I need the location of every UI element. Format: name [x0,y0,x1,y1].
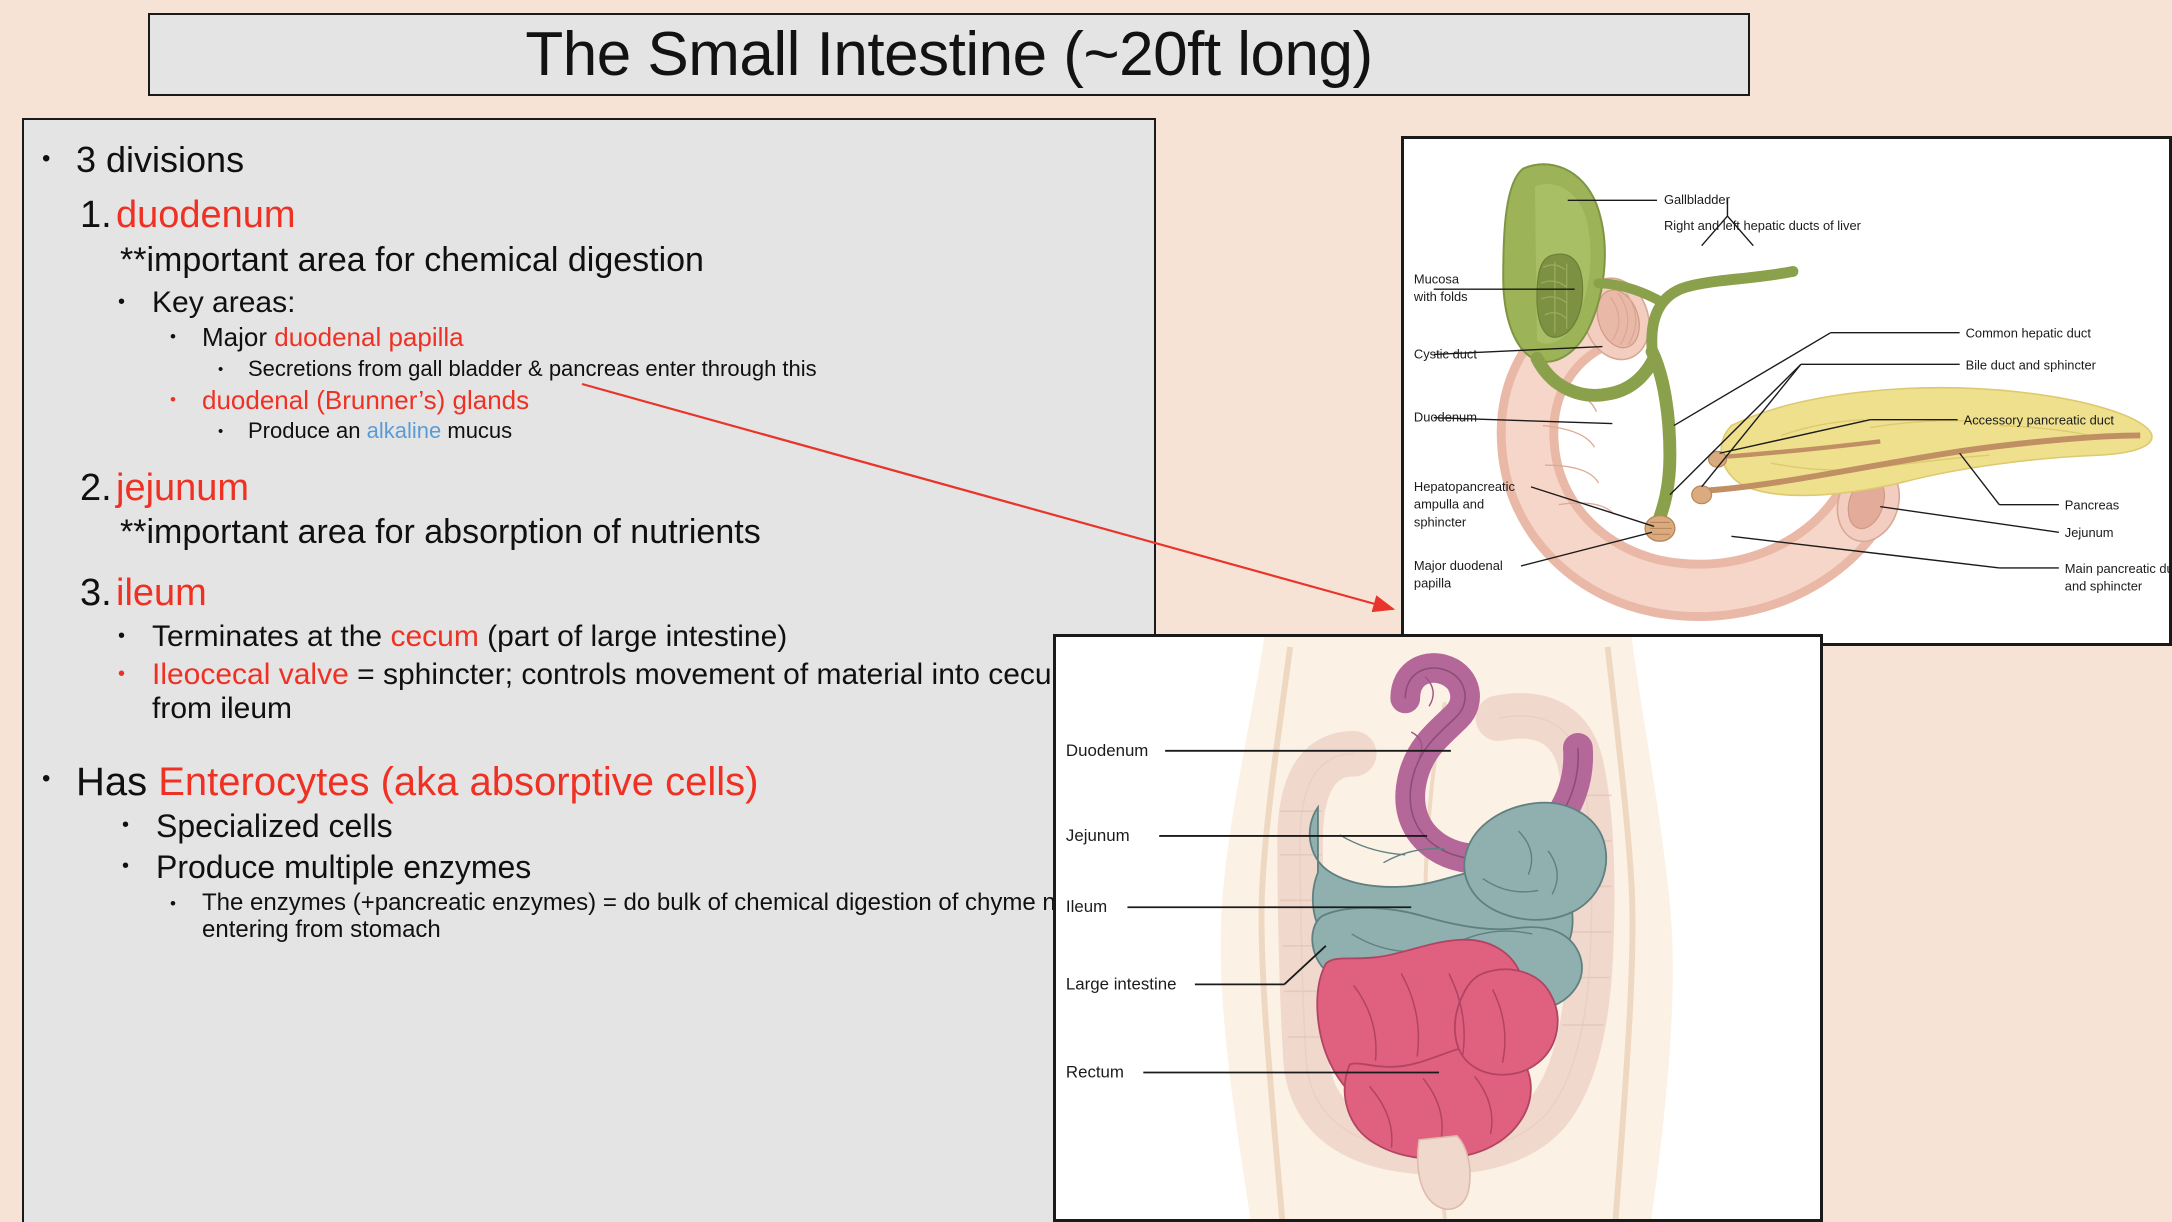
bullet-icon: • [42,140,76,178]
divisions-heading: 3 divisions [76,140,1136,180]
ileum-b1-post: (part of large intestine) [479,620,787,653]
major-papilla-line: Major duodenal papilla [202,323,1136,352]
enzymes-detail: The enzymes (+pancreatic enzymes) = do b… [202,890,1136,944]
bullet-icon: • [118,620,152,652]
brunner-detail: Produce an alkaline mucus [248,419,1136,444]
ileocecal-valve-line: Ileocecal valve = sphincter; controls mo… [152,658,1136,725]
list-item: • 3 divisions [42,140,1136,180]
label-duodenum-region: Duodenum [1066,741,1148,760]
label-accessory-pancreatic-duct: Accessory pancreatic duct [1964,413,2115,428]
list-number: 1. [80,194,116,237]
jejunum-label: jejunum [116,467,1136,510]
produce-enzymes: Produce multiple enzymes [156,850,1136,886]
brunner-detail-suffix: mucus [441,418,512,443]
list-item: • duodenal (Brunner’s) glands [42,386,1136,415]
list-item: 1. duodenum [42,194,1136,237]
brunner-detail-prefix: Produce an [248,418,367,443]
enterocytes-pre: Has [76,760,158,804]
specialized-cells: Specialized cells [156,809,1136,845]
label-jejunum-region: Jejunum [1066,826,1130,845]
bullet-icon: • [170,890,202,919]
label-common-hepatic-duct: Common hepatic duct [1966,326,2092,341]
label-duodenum: Duodenum [1414,410,1477,425]
list-item: • Ileocecal valve = sphincter; controls … [42,658,1136,725]
list-item: • Key areas: [42,286,1136,320]
list-item: • Produce an alkaline mucus [42,419,1136,445]
figure-gallbladder-pancreas: Gallbladder Right and left hepatic ducts… [1401,136,2172,646]
ileum-b1-pre: Terminates at the [152,620,390,653]
label-cystic-duct: Cystic duct [1414,346,1477,361]
papilla-term: duodenal papilla [274,322,463,352]
slide-content-box: • 3 divisions 1. duodenum **important ar… [22,118,1156,1222]
bullet-icon: • [170,323,202,352]
bullet-icon: • [42,760,76,798]
label-bile-duct: Bile duct and sphincter [1966,357,2097,372]
label-hepatopancreatic: Hepatopancreatic [1414,479,1516,494]
bullet-icon: • [118,286,152,318]
label-major-duodenal: Major duodenal [1414,558,1503,573]
list-item: • Major duodenal papilla [42,323,1136,352]
list-item: 3. ileum [42,572,1136,615]
list-number: 3. [80,572,116,615]
label-and-sphincter: and sphincter [2065,579,2143,594]
page-title: The Small Intestine (~20ft long) [525,24,1372,86]
label-mucosa-folds: with folds [1413,289,1468,304]
list-item: • Secretions from gall bladder & pancrea… [42,357,1136,383]
label-ampulla: ampulla and [1414,497,1484,512]
label-pancreas: Pancreas [2065,498,2119,513]
list-item: • Has Enterocytes (aka absorptive cells) [42,760,1136,805]
bullet-icon: • [218,357,248,383]
duodenum-note: **important area for chemical digestion [42,241,1136,280]
ileocecal-valve-term: Ileocecal valve [152,658,349,691]
list-item: • Terminates at the cecum (part of large… [42,620,1136,654]
label-rectum: Rectum [1066,1062,1124,1081]
list-number: 2. [80,467,116,510]
ileum-terminates-line: Terminates at the cecum (part of large i… [152,620,1136,654]
papilla-detail: Secretions from gall bladder & pancreas … [248,357,1136,382]
label-ileum-region: Ileum [1066,897,1107,916]
key-areas-label: Key areas: [152,286,1136,320]
label-main-pancreatic-duct: Main pancreatic duct [2065,561,2169,576]
list-item: • The enzymes (+pancreatic enzymes) = do… [42,890,1136,944]
duodenum-label: duodenum [116,194,1136,237]
alkaline-term: alkaline [367,418,442,443]
bullet-icon: • [170,386,202,415]
papilla-prefix: Major [202,322,274,352]
label-large-intestine: Large intestine [1066,974,1177,993]
brunner-glands-term: duodenal (Brunner’s) glands [202,386,1136,415]
ileum-label: ileum [116,572,1136,615]
list-item: • Produce multiple enzymes [42,850,1136,886]
bullet-icon: • [122,850,156,882]
label-jejunum: Jejunum [2065,525,2114,540]
cecum-term: cecum [390,620,478,653]
list-item: • Specialized cells [42,809,1136,845]
list-item: 2. jejunum [42,467,1136,510]
section-spacer [42,728,1136,754]
jejunum-note: **important area for absorption of nutri… [42,513,1136,552]
label-hepatic-ducts: Right and left hepatic ducts of liver [1664,218,1862,233]
bullet-icon: • [118,658,152,690]
enterocytes-line: Has Enterocytes (aka absorptive cells) [76,760,1136,805]
slide-title-box: The Small Intestine (~20ft long) [148,13,1750,96]
label-papilla: papilla [1414,576,1452,591]
label-gallbladder: Gallbladder [1664,192,1731,207]
enterocytes-term: Enterocytes (aka absorptive cells) [158,760,758,804]
bullet-icon: • [122,809,156,841]
label-mucosa: Mucosa [1414,271,1460,286]
label-sphincter: sphincter [1414,514,1467,529]
bullet-icon: • [218,419,248,445]
figure-intestine-regions: Duodenum Jejunum Ileum Large intestine R… [1053,634,1823,1222]
